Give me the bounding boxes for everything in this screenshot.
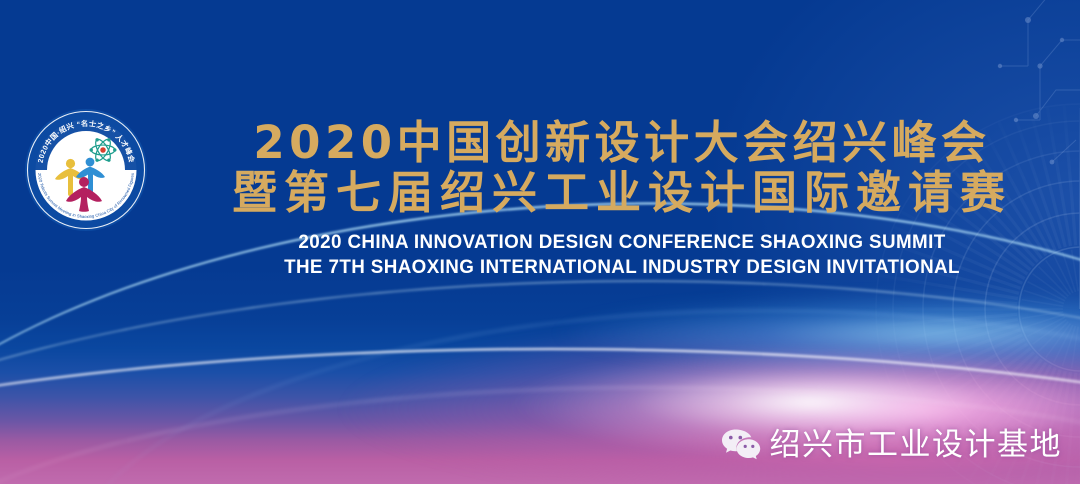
wechat-icon — [721, 428, 761, 462]
wechat-account-label: 绍兴市工业设计基地 — [770, 428, 1063, 462]
subtitle-block: 2020 CHINA INNOVATION DESIGN CONFERENCE … — [196, 230, 1048, 280]
subtitle-english-line-1: 2020 CHINA INNOVATION DESIGN CONFERENCE … — [211, 230, 1033, 255]
subtitle-english-line-2: THE 7TH SHAOXING INTERNATIONAL INDUSTRY … — [211, 255, 1033, 280]
conference-banner: 2020中国·绍兴 “名士之乡” 人才峰会 2020 Talents Summi… — [0, 0, 1080, 484]
title-chinese-line-2: 暨第七届绍兴工业设计国际邀请赛 — [196, 168, 1048, 218]
title-chinese-line-1: 2020中国创新设计大会绍兴峰会 — [196, 118, 1048, 168]
wechat-badge: 绍兴市工业设计基地 — [721, 428, 1063, 462]
title-block: 2020中国创新设计大会绍兴峰会 暨第七届绍兴工业设计国际邀请赛 — [196, 118, 1048, 218]
talents-summit-emblem: 2020中国·绍兴 “名士之乡” 人才峰会 2020 Talents Summi… — [24, 108, 148, 232]
